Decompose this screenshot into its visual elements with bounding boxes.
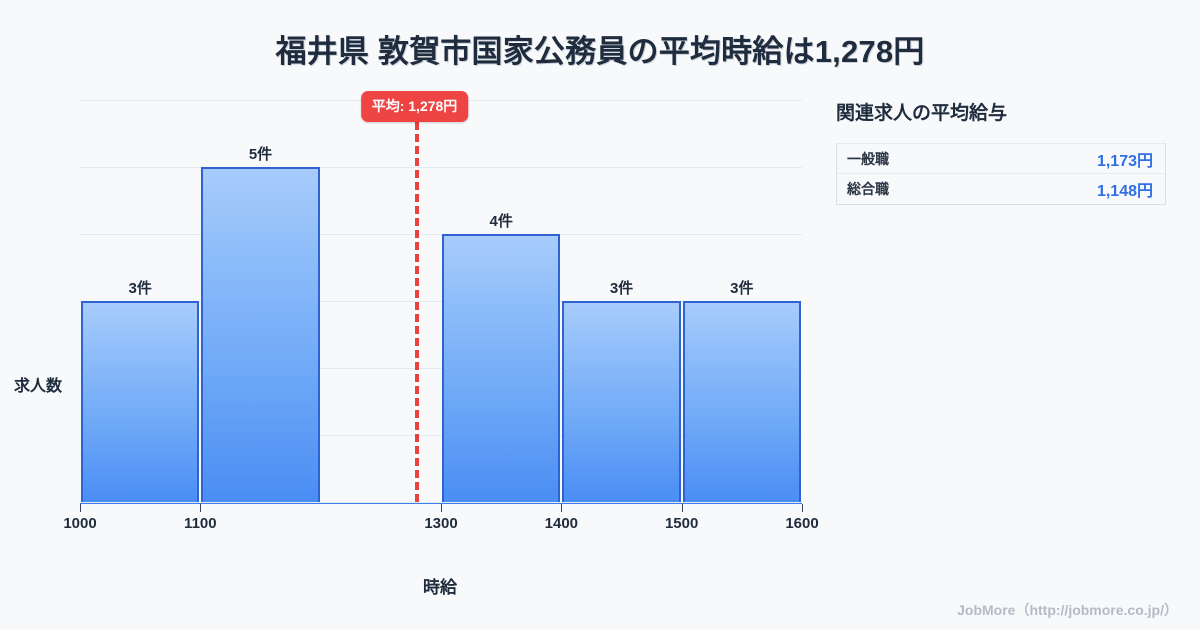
x-tick-mark bbox=[682, 504, 683, 512]
job-type-label: 一般職 bbox=[847, 149, 889, 169]
histogram-chart: 求人数 3件5件4件3件3件平均: 1,278円1000110013001400… bbox=[0, 90, 820, 540]
page-title: 福井県 敦賀市国家公務員の平均時給は1,278円 bbox=[0, 26, 1200, 71]
x-tick-label: 1100 bbox=[184, 515, 217, 532]
x-axis-label: 時給 bbox=[0, 573, 880, 598]
x-tick-mark bbox=[802, 504, 803, 512]
bar-value-label: 3件 bbox=[730, 277, 753, 298]
bar bbox=[683, 301, 801, 502]
x-tick-label: 1400 bbox=[545, 515, 578, 532]
x-tick-mark bbox=[561, 504, 562, 512]
plot-area: 3件5件4件3件3件平均: 1,278円10001100130014001500… bbox=[80, 100, 802, 502]
x-tick-mark bbox=[200, 504, 201, 512]
average-salary-value: 1,173円 bbox=[1097, 147, 1153, 171]
bar bbox=[81, 301, 199, 502]
footer-credit: JobMore（http://jobmore.co.jp/） bbox=[957, 600, 1178, 620]
related-salary-title: 関連求人の平均給与 bbox=[836, 98, 1166, 125]
job-type-label: 総合職 bbox=[847, 179, 889, 199]
average-salary-value: 1,148円 bbox=[1097, 177, 1153, 201]
bar-value-label: 3件 bbox=[610, 277, 633, 298]
related-salary-table: 一般職1,173円総合職1,148円 bbox=[836, 143, 1166, 205]
bar bbox=[442, 234, 560, 502]
x-tick-label: 1300 bbox=[424, 515, 457, 532]
related-salary-panel: 関連求人の平均給与 一般職1,173円総合職1,148円 bbox=[836, 98, 1166, 205]
bar-value-label: 4件 bbox=[489, 210, 512, 231]
x-tick-label: 1000 bbox=[63, 515, 96, 532]
x-tick-mark bbox=[441, 504, 442, 512]
gridline bbox=[80, 502, 802, 503]
bar-value-label: 3件 bbox=[128, 277, 151, 298]
average-badge: 平均: 1,278円 bbox=[361, 91, 469, 122]
average-line bbox=[415, 122, 419, 502]
gridline bbox=[80, 234, 802, 235]
x-tick-label: 1600 bbox=[785, 515, 818, 532]
bar-value-label: 5件 bbox=[249, 143, 272, 164]
bar bbox=[562, 301, 680, 502]
gridline bbox=[80, 167, 802, 168]
bar bbox=[201, 167, 319, 502]
table-row: 総合職1,148円 bbox=[837, 174, 1165, 205]
table-row: 一般職1,173円 bbox=[837, 143, 1165, 174]
y-axis-label: 求人数 bbox=[14, 372, 62, 396]
x-tick-label: 1500 bbox=[665, 515, 698, 532]
x-tick-mark bbox=[80, 504, 81, 512]
